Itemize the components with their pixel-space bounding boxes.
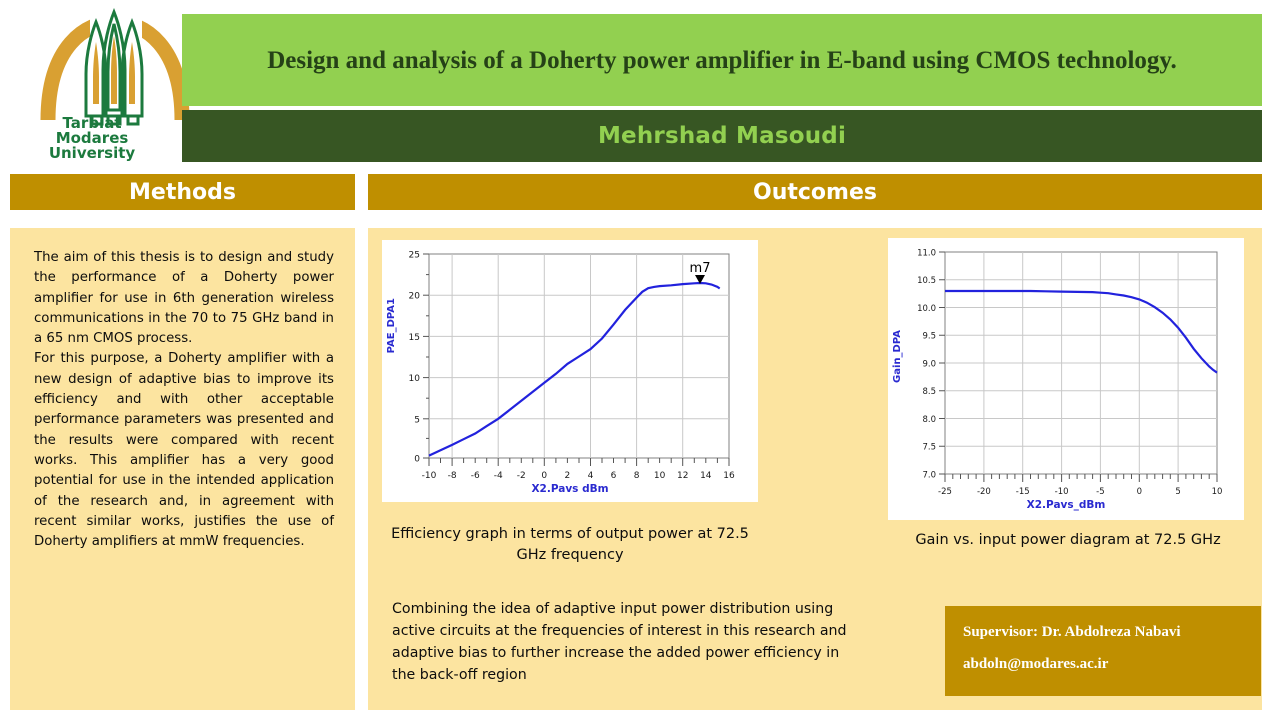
svg-text:-15: -15	[1016, 487, 1030, 497]
methods-panel: The aim of this thesis is to design and …	[10, 228, 355, 710]
gain-chart-svg: 11.0 10.5 10.0 9.5 9.0 8.5 8.0 7.5 7.0	[888, 238, 1244, 520]
section-header-methods: Methods	[10, 174, 355, 210]
supervisor-email[interactable]: abdoln@modares.ac.ir	[963, 656, 1108, 673]
svg-text:9.0: 9.0	[922, 360, 936, 370]
svg-text:8: 8	[634, 471, 640, 481]
gain-chart-y-axis	[939, 252, 945, 474]
methods-paragraph-2: For this purpose, a Doherty amplifier wi…	[34, 349, 334, 552]
methods-body: The aim of this thesis is to design and …	[34, 248, 334, 552]
svg-text:0: 0	[541, 471, 547, 481]
svg-text:14: 14	[700, 471, 712, 481]
gain-chart-caption: Gain vs. input power diagram at 72.5 GHz	[868, 530, 1268, 551]
svg-text:8.5: 8.5	[922, 387, 936, 397]
gain-chart-y-ticklabels: 11.0 10.5 10.0 9.5 9.0 8.5 8.0 7.5 7.0	[917, 249, 936, 481]
svg-text:15: 15	[409, 333, 420, 343]
gain-chart-x-ticklabels: -25 -20 -15 -10 -5 0 5 10	[938, 487, 1222, 497]
svg-text:7.0: 7.0	[922, 471, 936, 481]
supervisor-name: Supervisor: Dr. Abdolreza Nabavi	[963, 624, 1181, 641]
svg-text:25: 25	[409, 251, 420, 261]
pae-chart-y-axis	[423, 254, 429, 458]
svg-text:4: 4	[588, 471, 594, 481]
svg-text:9.5: 9.5	[922, 332, 936, 342]
logo-wordmark-line1: Tarbiat Modares	[32, 116, 152, 146]
svg-text:5: 5	[414, 415, 420, 425]
svg-text:-10: -10	[1055, 487, 1069, 497]
supervisor-box: Supervisor: Dr. Abdolreza Nabavi abdoln@…	[945, 606, 1261, 696]
svg-text:0: 0	[414, 455, 420, 465]
pae-chart-y-ticklabels: 25 20 15 10 5 0	[409, 251, 421, 465]
svg-text:10: 10	[409, 374, 421, 384]
outcomes-body: Combining the idea of adaptive input pow…	[392, 598, 862, 686]
gain-chart: 11.0 10.5 10.0 9.5 9.0 8.5 8.0 7.5 7.0	[888, 238, 1244, 520]
outcomes-panel: 25 20 15 10 5 0	[368, 228, 1262, 710]
svg-text:-20: -20	[977, 487, 991, 497]
svg-text:10: 10	[1212, 487, 1223, 497]
gain-chart-x-axis	[945, 474, 1217, 482]
logo-icon	[40, 8, 190, 128]
svg-text:12: 12	[677, 471, 688, 481]
svg-text:6: 6	[611, 471, 617, 481]
page-title: Design and analysis of a Doherty power a…	[222, 44, 1222, 77]
svg-text:-8: -8	[448, 471, 457, 481]
svg-text:7.5: 7.5	[922, 443, 936, 453]
svg-text:-4: -4	[494, 471, 503, 481]
svg-text:-2: -2	[517, 471, 526, 481]
svg-text:-10: -10	[422, 471, 437, 481]
pae-chart-marker-m7-label: m7	[690, 261, 711, 276]
pae-chart-x-ticklabels: -10 -8 -6 -4 -2 0 2 4 6 8 10 12 14 16	[422, 471, 735, 481]
svg-text:11.0: 11.0	[917, 249, 936, 259]
svg-text:-5: -5	[1096, 487, 1104, 497]
svg-text:5: 5	[1175, 487, 1180, 497]
pae-chart-caption: Efficiency graph in terms of output powe…	[382, 524, 758, 566]
section-header-methods-label: Methods	[129, 180, 236, 205]
svg-text:2: 2	[565, 471, 571, 481]
logo-wordmark: Tarbiat Modares University	[32, 116, 152, 161]
pae-chart-xlabel: X2.Pavs dBm	[382, 483, 758, 495]
svg-text:-6: -6	[471, 471, 480, 481]
poster-author-bar: Mehrshad Masoudi	[182, 110, 1262, 162]
author-name: Mehrshad Masoudi	[598, 123, 846, 149]
poster-canvas: Tarbiat Modares University Design and an…	[0, 0, 1280, 720]
svg-text:-25: -25	[938, 487, 952, 497]
logo-wordmark-line2: University	[32, 146, 152, 161]
svg-text:16: 16	[723, 471, 735, 481]
svg-text:10.5: 10.5	[917, 276, 936, 286]
svg-text:8.0: 8.0	[922, 415, 936, 425]
section-header-outcomes: Outcomes	[368, 174, 1262, 210]
section-header-outcomes-label: Outcomes	[753, 180, 877, 205]
svg-text:10: 10	[654, 471, 666, 481]
methods-paragraph-1: The aim of this thesis is to design and …	[34, 248, 334, 349]
university-logo: Tarbiat Modares University	[0, 0, 182, 166]
svg-text:20: 20	[409, 292, 421, 302]
gain-chart-ylabel: Gain_DPA	[892, 330, 903, 383]
gain-chart-xlabel: X2.Pavs_dBm	[888, 499, 1244, 511]
outcomes-paragraph: Combining the idea of adaptive input pow…	[392, 598, 862, 686]
poster-title-bar: Design and analysis of a Doherty power a…	[182, 14, 1262, 106]
pae-chart-ylabel: PAE_DPA1	[386, 298, 397, 353]
gain-chart-gridlines	[945, 252, 1217, 474]
svg-text:10.0: 10.0	[917, 304, 936, 314]
svg-text:0: 0	[1137, 487, 1142, 497]
pae-chart: 25 20 15 10 5 0	[382, 240, 758, 502]
pae-chart-x-axis	[429, 458, 729, 466]
pae-chart-svg: 25 20 15 10 5 0	[382, 240, 758, 502]
